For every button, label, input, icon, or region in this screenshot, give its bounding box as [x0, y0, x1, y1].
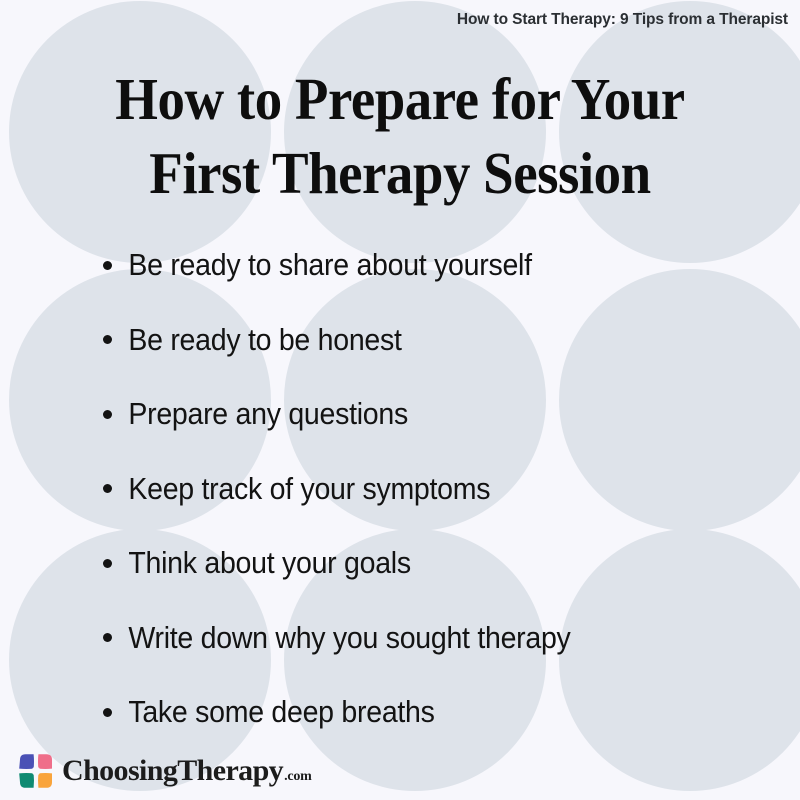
brand-name: ChoosingTherapy: [62, 756, 283, 786]
page-title-line-1: How to Prepare for Your: [75, 62, 726, 136]
article-source-title: How to Start Therapy: 9 Tips from a Ther…: [457, 11, 788, 29]
petal-top-right: [38, 754, 52, 769]
infographic-canvas: How to Start Therapy: 9 Tips from a Ther…: [0, 0, 800, 800]
mark-center: [32, 767, 41, 776]
list-item: Keep track of your symptoms: [98, 452, 758, 527]
page-title-line-2: First Therapy Session: [75, 136, 726, 210]
list-item-label: Prepare any questions: [98, 397, 408, 431]
petal-top-left: [19, 754, 34, 769]
list-item: Prepare any questions: [98, 377, 758, 452]
petal-bottom-left: [19, 773, 34, 788]
header-bar: How to Start Therapy: 9 Tips from a Ther…: [0, 0, 800, 40]
tips-list: Be ready to share about yourself Be read…: [98, 228, 758, 750]
list-item: Take some deep breaths: [98, 675, 758, 750]
list-item-label: Be ready to be honest: [98, 323, 402, 357]
list-item: Write down why you sought therapy: [98, 601, 758, 676]
brand-logo[interactable]: ChoosingTherapy .com: [16, 751, 312, 791]
page-title: How to Prepare for Your First Therapy Se…: [50, 62, 750, 210]
list-item-label: Be ready to share about yourself: [98, 248, 532, 282]
list-item-label: Take some deep breaths: [98, 695, 435, 729]
list-item-label: Keep track of your symptoms: [98, 472, 490, 506]
list-item: Be ready to share about yourself: [98, 228, 758, 303]
four-petal-flower-icon: [16, 751, 56, 791]
list-item: Think about your goals: [98, 526, 758, 601]
list-item-label: Think about your goals: [98, 546, 411, 580]
list-item: Be ready to be honest: [98, 303, 758, 378]
list-item-label: Write down why you sought therapy: [98, 621, 571, 655]
brand-tld: .com: [284, 770, 312, 784]
brand-wordmark: ChoosingTherapy .com: [62, 756, 312, 786]
petal-bottom-right: [38, 773, 52, 788]
